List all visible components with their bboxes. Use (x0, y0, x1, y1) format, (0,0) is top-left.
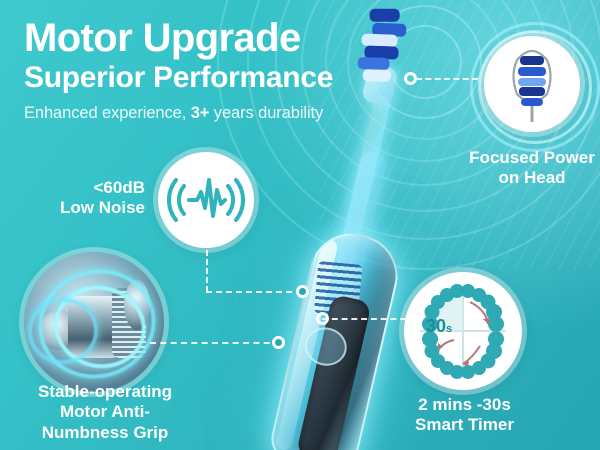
connector-line-noise-horizontal (206, 291, 302, 293)
timer-badge-unit: s (446, 323, 452, 335)
motor-line1: Stable-operating (0, 382, 210, 402)
head-line2: on Head (432, 168, 600, 188)
timer-badge-value: 30 (426, 316, 446, 336)
connector-line-head (416, 78, 478, 80)
connector-dot-timer (316, 312, 329, 325)
teeth-timer-icon (404, 272, 522, 390)
timer-badge: 30s (426, 316, 452, 337)
low-noise-icon-circle (158, 152, 254, 248)
page-title: Motor Upgrade (24, 18, 404, 59)
tagline: Enhanced experience, 3+ years durability (24, 104, 404, 123)
tagline-part2: years durability (209, 104, 323, 122)
motor-photo-icon (24, 252, 164, 392)
connector-dot-motor (272, 336, 285, 349)
motor-grip-label: Stable-operating Motor Anti- Numbness Gr… (0, 382, 210, 443)
head-line1: Focused Power (432, 148, 600, 168)
brush-neck-glow (329, 149, 388, 301)
timer-line2: Smart Timer (372, 415, 557, 435)
focused-power-label: Focused Power on Head (432, 148, 600, 189)
smart-timer-label: 2 mins -30s Smart Timer (372, 395, 557, 436)
internal-coil (314, 261, 362, 317)
motor-line2: Motor Anti- (0, 402, 210, 422)
connector-line-noise-vertical (206, 250, 208, 292)
brush-head-icon (484, 36, 580, 132)
low-noise-label: <60dB Low Noise (30, 178, 145, 218)
connector-line-motor (150, 342, 280, 344)
tagline-part1: Enhanced experience, (24, 104, 191, 122)
timer-line1: 2 mins -30s (372, 395, 557, 415)
motor-line3: Numbness Grip (0, 423, 210, 443)
sound-wave-icon (158, 152, 254, 248)
low-noise-line1: <60dB (30, 178, 145, 198)
tagline-highlight: 3+ (191, 104, 210, 122)
headline-block: Motor Upgrade Superior Performance Enhan… (24, 18, 404, 123)
smart-timer-icon-circle: 30s (404, 272, 522, 390)
connector-line-timer (322, 318, 416, 320)
promo-banner: Motor Upgrade Superior Performance Enhan… (0, 0, 600, 450)
motor-icon-circle (24, 252, 164, 392)
page-subtitle: Superior Performance (24, 61, 404, 96)
connector-dot-noise (296, 285, 309, 298)
internal-motor-ring (301, 323, 350, 369)
focused-power-icon-circle (484, 36, 580, 132)
low-noise-line2: Low Noise (30, 198, 145, 218)
